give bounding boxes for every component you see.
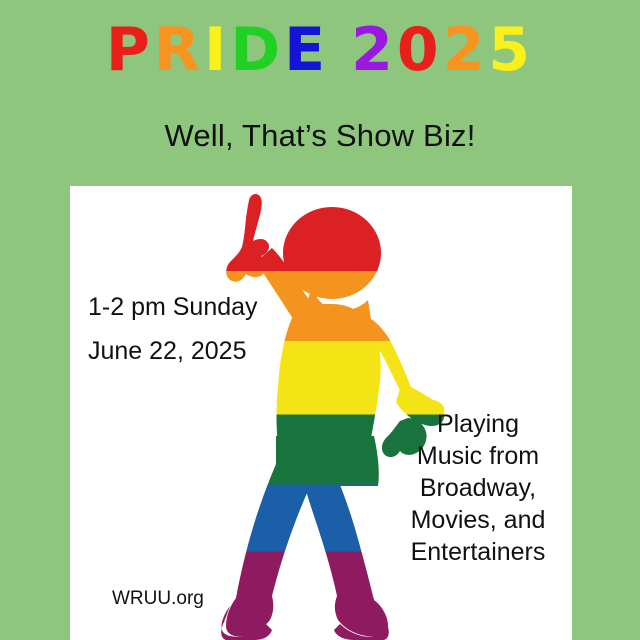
title-letter-0: P bbox=[106, 20, 154, 80]
music-line-2: Music from bbox=[394, 440, 562, 472]
music-line-4: Movies, and bbox=[394, 504, 562, 536]
title-letter-7: 0 bbox=[397, 20, 443, 80]
poster-subtitle: Well, That’s Show Biz! bbox=[0, 118, 640, 154]
title-letter-6: 2 bbox=[351, 20, 397, 80]
title-letter-3: D bbox=[230, 20, 284, 80]
title-letter-1: R bbox=[154, 20, 204, 80]
event-date-line: June 22, 2025 bbox=[88, 330, 258, 374]
poster-card: 1-2 pm Sunday June 22, 2025 bbox=[70, 186, 572, 640]
page-title: PRIDE2025 bbox=[0, 20, 640, 80]
event-time-line: 1-2 pm Sunday bbox=[88, 286, 258, 330]
event-datetime-block: 1-2 pm Sunday June 22, 2025 bbox=[88, 286, 258, 374]
title-letter-9: 5 bbox=[488, 20, 534, 80]
pride-poster: PRIDE2025 Well, That’s Show Biz! 1-2 pm … bbox=[0, 0, 640, 640]
music-line-1: Playing bbox=[394, 408, 562, 440]
title-letter-4: E bbox=[284, 20, 329, 80]
music-line-5: Entertainers bbox=[394, 536, 562, 568]
title-letter-8: 2 bbox=[443, 20, 489, 80]
music-description-block: Playing Music from Broadway, Movies, and… bbox=[394, 408, 562, 568]
title-letter-2: I bbox=[204, 20, 230, 80]
station-website: WRUU.org bbox=[112, 588, 204, 610]
music-line-3: Broadway, bbox=[394, 472, 562, 504]
